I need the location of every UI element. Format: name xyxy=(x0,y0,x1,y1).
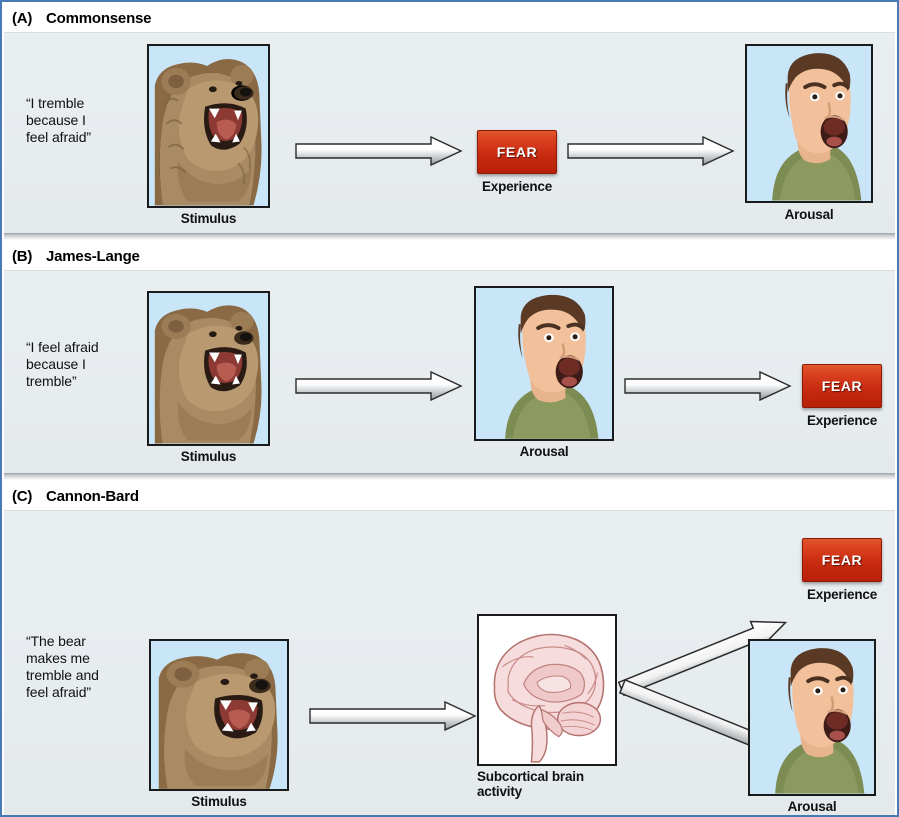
quote-line: tremble and xyxy=(26,667,141,684)
person-illustration xyxy=(476,288,612,439)
bear-illustration xyxy=(151,641,287,789)
panel-a-letter: (A) xyxy=(12,10,46,27)
panel-a-quote: “I tremble because I feel afraid” xyxy=(26,95,136,146)
person-illustration xyxy=(750,641,874,794)
panel-james-lange: (B) James-Lange “I feel afraid because I… xyxy=(4,242,895,480)
quote-line: tremble” xyxy=(26,373,146,390)
quote-line: because I xyxy=(26,112,136,129)
panel-cannon-bard: (C) Cannon-Bard “The bear makes me tremb… xyxy=(4,482,895,817)
bear-illustration xyxy=(149,293,268,444)
panel-b-title-text: James-Lange xyxy=(46,248,140,265)
arrow-stimulus-to-arousal xyxy=(295,371,462,401)
panel-c-letter: (C) xyxy=(12,488,46,505)
brain-illustration xyxy=(479,616,615,764)
panel-b-body: “I feel afraid because I tremble” xyxy=(4,270,895,473)
fear-experience-box: FEAR xyxy=(477,130,557,174)
quote-line: makes me xyxy=(26,650,141,667)
stimulus-caption: Stimulus xyxy=(149,794,289,809)
bear-illustration xyxy=(149,46,268,206)
arousal-caption: Arousal xyxy=(745,207,873,222)
fear-label: FEAR xyxy=(822,552,863,568)
experience-caption: Experience xyxy=(467,179,567,194)
stimulus-bear-image xyxy=(147,44,270,208)
brain-caption-line1: Subcortical brain xyxy=(477,769,642,784)
fear-label: FEAR xyxy=(822,378,863,394)
emotion-theories-figure: (A) Commonsense “I tremble because I fee… xyxy=(0,0,899,817)
experience-caption: Experience xyxy=(792,413,892,428)
fear-experience-box: FEAR xyxy=(802,538,882,582)
panel-b-letter: (B) xyxy=(12,248,46,265)
panel-b-title: (B) James-Lange xyxy=(4,242,895,270)
stimulus-caption: Stimulus xyxy=(147,449,270,464)
arrow-fear-to-arousal xyxy=(567,136,734,166)
panel-c-body: “The bear makes me tremble and feel afra… xyxy=(4,510,895,816)
fear-experience-box: FEAR xyxy=(802,364,882,408)
quote-line: “I feel afraid xyxy=(26,339,146,356)
quote-line: “I tremble xyxy=(26,95,136,112)
stimulus-caption: Stimulus xyxy=(147,211,270,226)
stimulus-bear-image xyxy=(147,291,270,446)
panel-a-title-text: Commonsense xyxy=(46,10,151,27)
brain-caption-line2: activity xyxy=(477,784,642,799)
quote-line: “The bear xyxy=(26,633,141,650)
fear-label: FEAR xyxy=(497,144,538,160)
panel-c-title-text: Cannon-Bard xyxy=(46,488,139,505)
panel-a-body: “I tremble because I feel afraid” xyxy=(4,32,895,233)
quote-line: because I xyxy=(26,356,146,373)
panel-commonsense: (A) Commonsense “I tremble because I fee… xyxy=(4,4,895,240)
arousal-person-image xyxy=(474,286,614,441)
arrow-stimulus-to-brain xyxy=(309,701,476,731)
arousal-person-image xyxy=(745,44,873,203)
quote-line: feel afraid” xyxy=(26,129,136,146)
panel-c-title: (C) Cannon-Bard xyxy=(4,482,895,510)
panel-c-quote: “The bear makes me tremble and feel afra… xyxy=(26,633,141,701)
panel-a-title: (A) Commonsense xyxy=(4,4,895,32)
subcortical-brain-image xyxy=(477,614,617,766)
arrow-arousal-to-fear xyxy=(624,371,791,401)
arousal-caption: Arousal xyxy=(748,799,876,814)
person-illustration xyxy=(747,46,871,201)
panel-b-quote: “I feel afraid because I tremble” xyxy=(26,339,146,390)
quote-line: feel afraid” xyxy=(26,684,141,701)
arrow-stimulus-to-fear xyxy=(295,136,462,166)
arousal-caption: Arousal xyxy=(474,444,614,459)
arousal-person-image xyxy=(748,639,876,796)
subcortical-brain-caption: Subcortical brain activity xyxy=(477,769,642,799)
stimulus-bear-image xyxy=(149,639,289,791)
experience-caption: Experience xyxy=(792,587,892,602)
